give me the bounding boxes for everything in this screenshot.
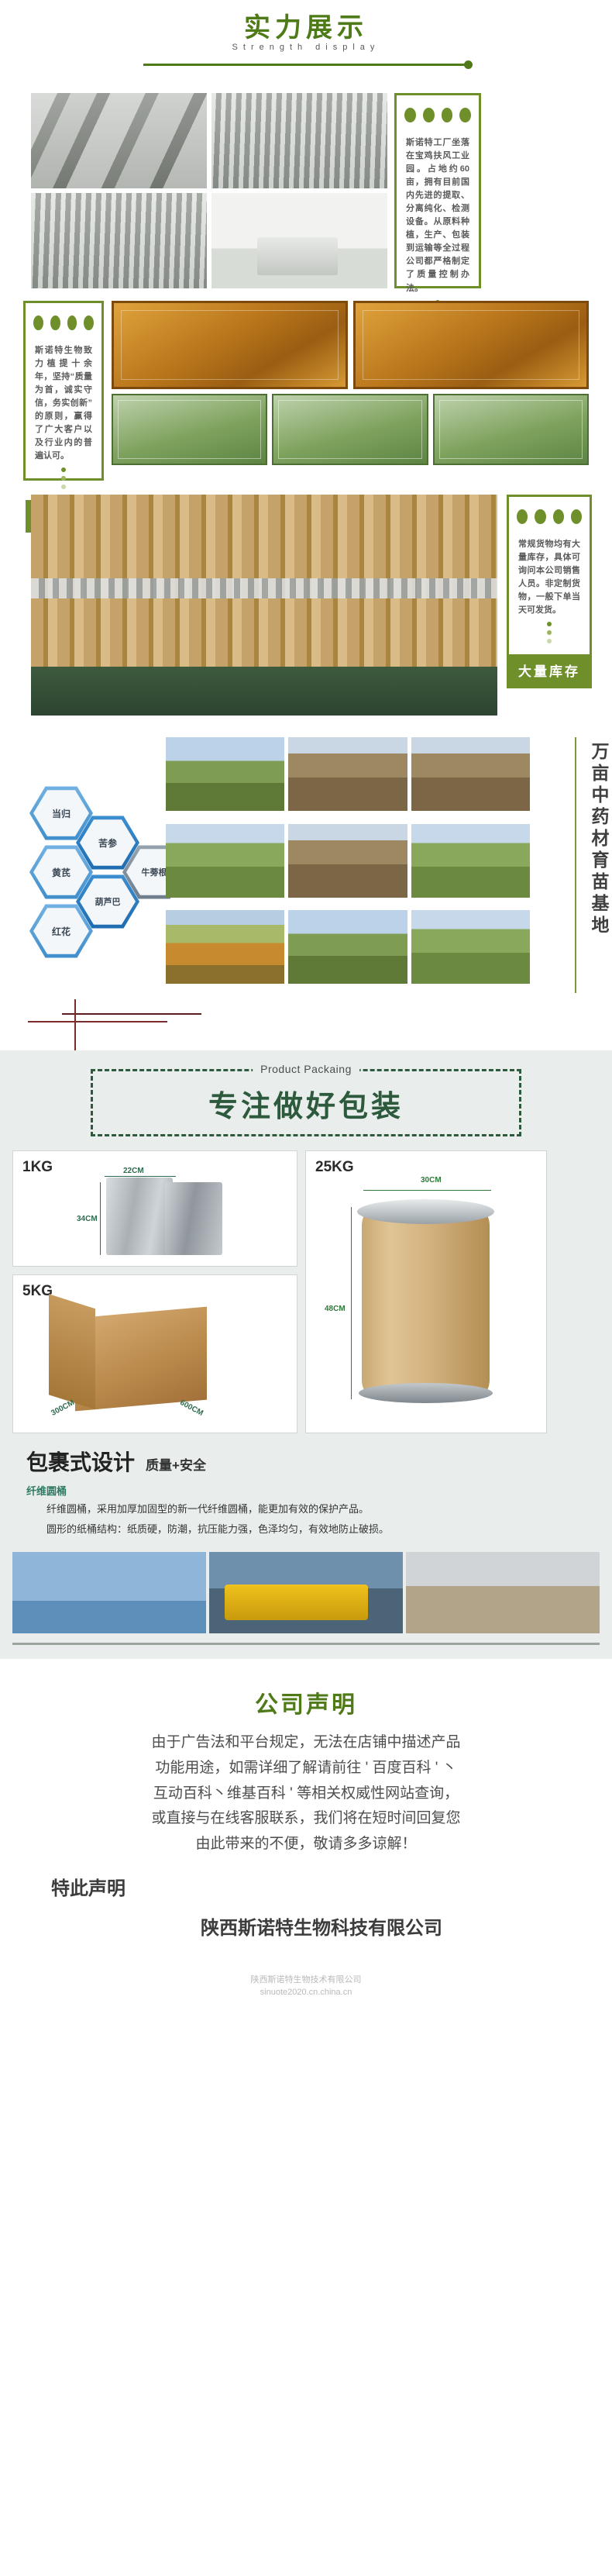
panel-5kg-dim-l: 600CM <box>178 1398 205 1418</box>
hero-divider <box>143 64 469 66</box>
section-statement: 公司声明 由于广告法和平台规定，无法在店铺中描述产品 功能用途，如需详细了解请前… <box>0 1659 612 1950</box>
panel-1kg-tag: 1KG <box>22 1159 53 1176</box>
page-title: 实力展示 <box>0 6 612 44</box>
packaging-copy-heading-sub: 质量+安全 <box>146 1454 206 1474</box>
statement-body: 由于广告法和平台规定，无法在店铺中描述产品 功能用途，如需详细了解请前往 ' 百… <box>15 1730 597 1857</box>
packaging-copy-subhead: 纤维圆桶 <box>26 1483 586 1498</box>
photo-cert-3 <box>433 394 589 465</box>
section-factory: 斯诺特工厂坐落在宝鸡扶风工业园。占地约60亩，拥有目前国内先进的提取、分离纯化、… <box>0 93 612 288</box>
page-subtitle: Strength display <box>0 43 612 52</box>
statement-note: 特此声明 <box>15 1873 597 1900</box>
photo-evaporator-columns <box>31 193 207 288</box>
honor-info-card: 斯诺特生物致力植提十余年，坚持“质量为首，诚实守信，务实创新”的原则，赢得了广大… <box>23 301 104 481</box>
panel-1kg-dim-w: 22CM <box>123 1167 144 1175</box>
photo-cert-2 <box>272 394 428 465</box>
photo-leafy-plants <box>411 910 530 984</box>
factory-info-card: 斯诺特工厂坐落在宝鸡扶风工业园。占地约60亩，拥有目前国内先进的提取、分离纯化、… <box>394 93 481 288</box>
statement-line-3: 或直接与在线客服联系，我们将在短时间回复您 <box>15 1806 597 1832</box>
photo-worker-digging <box>288 824 407 898</box>
section-stock: 常规货物均有大量库存，具体可询问本公司销售人员。非定制货物，一般下单当天可发货。… <box>0 481 612 716</box>
watermark: 陕西斯诺特生物技术有限公司 sinuote2020.cn.china.cn <box>0 1974 612 2010</box>
photo-warehouse-fiber-drums <box>31 495 497 716</box>
base-photo-grid <box>166 737 572 993</box>
card-dots <box>26 303 101 341</box>
photo-stainless-extraction-line <box>211 93 387 188</box>
card-dots <box>397 95 479 133</box>
statement-line-1: 功能用途，如需详细了解请前往 ' 百度百科 ' 丶 <box>15 1756 597 1781</box>
panel-1kg: 1KG 22CM 34CM <box>12 1150 297 1267</box>
photo-field-workers-1 <box>166 737 284 811</box>
logistics-photo-row <box>12 1552 600 1633</box>
photo-gold-plaque-left <box>112 301 348 389</box>
factory-photo-grid <box>31 93 387 288</box>
stock-card-label: 大量库存 <box>509 654 590 687</box>
honor-card-text: 斯诺特生物致力植提十余年，坚持“质量为首，诚实守信，务实创新”的原则，赢得了广大… <box>26 341 101 467</box>
panel-5kg-dim-w: 300CM <box>50 1398 76 1418</box>
product-detail-page: 实力展示 Strength display 斯诺特工厂坐落在宝鸡扶风工业园。占地… <box>0 0 612 2010</box>
panel-25kg-tag: 25KG <box>315 1159 354 1176</box>
photo-warehouse-loading <box>406 1552 600 1633</box>
packaging-panels: 1KG 22CM 34CM 5KG 300CM 600CM 25KG 3 <box>12 1150 600 1433</box>
panel-25kg-dim-h: 48CM <box>325 1305 346 1313</box>
section-packaging: Product Packaing 专注做好包装 1KG 22CM 34CM 5K… <box>0 1050 612 1659</box>
photo-cert-1 <box>112 394 267 465</box>
stock-info-card: 常规货物均有大量库存，具体可询问本公司销售人员。非定制货物，一般下单当天可发货。… <box>507 495 592 688</box>
packaging-title: 专注做好包装 <box>101 1082 511 1125</box>
statement-line-4: 由此带来的不便，敬请多多谅解！ <box>15 1832 597 1857</box>
panel-25kg: 25KG 30CM 48CM <box>305 1150 547 1433</box>
statement-line-0: 由于广告法和平台规定，无法在店铺中描述产品 <box>15 1730 597 1756</box>
stock-card-text: 常规货物均有大量库存，具体可询问本公司销售人员。非定制货物，一般下单当天可发货。 <box>509 535 590 622</box>
photo-hillside-terrace <box>411 737 530 811</box>
panel-1kg-dim-h: 34CM <box>77 1215 98 1223</box>
panel-25kg-dim-w: 30CM <box>421 1176 442 1185</box>
photo-person-in-field <box>288 910 407 984</box>
statement-company: 陕西斯诺特生物科技有限公司 <box>15 1912 597 1940</box>
card-vertical-dots <box>509 622 590 654</box>
hero-header: 实力展示 Strength display <box>0 0 612 93</box>
factory-card-text: 斯诺特工厂坐落在宝鸡扶风工业园。占地约60亩，拥有目前国内先进的提取、分离纯化、… <box>397 133 479 300</box>
base-vertical-title: 万亩中药材育苗基地 <box>575 737 612 993</box>
section-honors: 斯诺特生物致力植提十余年，坚持“质量为首，诚实守信，务实创新”的原则，赢得了广大… <box>0 288 612 481</box>
photo-crop-closeup <box>411 824 530 898</box>
photo-gold-plaque-right <box>353 301 590 389</box>
photo-factory-exterior-tanks <box>31 93 207 188</box>
packaging-eyebrow: Product Packaing <box>253 1063 359 1075</box>
packaging-header: Product Packaing 专注做好包装 <box>91 1069 521 1136</box>
packaging-copy-p2: 圆形的纸桶结构：纸质硬，防潮，抗压能力强，色泽均匀，有效地防止破损。 <box>26 1521 586 1538</box>
section-planting-base: 当归 苦参 黄芪 牛蒡根 葫芦巴 红花 万亩中药材育苗基地 <box>0 716 612 1001</box>
packaging-copy: 包裹式设计 质量+安全 纤维圆桶 纤维圆桶，采用加厚加固型的新一代纤维圆桶，能更… <box>12 1433 600 1541</box>
statement-title: 公司声明 <box>15 1685 597 1719</box>
packaging-footer-rule <box>12 1643 600 1645</box>
honor-photo-group <box>112 301 589 481</box>
watermark-line-2: sinuote2020.cn.china.cn <box>0 1986 612 1999</box>
photo-lab-instruments <box>211 193 387 288</box>
photo-orange-flower-field <box>166 910 284 984</box>
corner-cross-decoration <box>0 1001 612 1050</box>
statement-line-2: 互动百科丶维基百科 ' 等相关权威性网站查询， <box>15 1781 597 1807</box>
photo-green-field-rows <box>166 824 284 898</box>
panel-5kg: 5KG 300CM 600CM <box>12 1274 297 1433</box>
photo-yellow-truck <box>209 1552 403 1633</box>
photo-field-workers-2 <box>288 737 407 811</box>
herb-hexagon-cluster: 当归 苦参 黄芪 牛蒡根 葫芦巴 红花 <box>26 737 166 993</box>
card-dots <box>509 497 590 535</box>
photo-air-cargo-plane <box>12 1552 206 1633</box>
packaging-copy-p1: 纤维圆桶，采用加厚加固型的新一代纤维圆桶，能更加有效的保护产品。 <box>26 1501 586 1518</box>
packaging-copy-heading: 包裹式设计 <box>26 1446 135 1477</box>
watermark-line-1: 陕西斯诺特生物技术有限公司 <box>0 1974 612 1987</box>
